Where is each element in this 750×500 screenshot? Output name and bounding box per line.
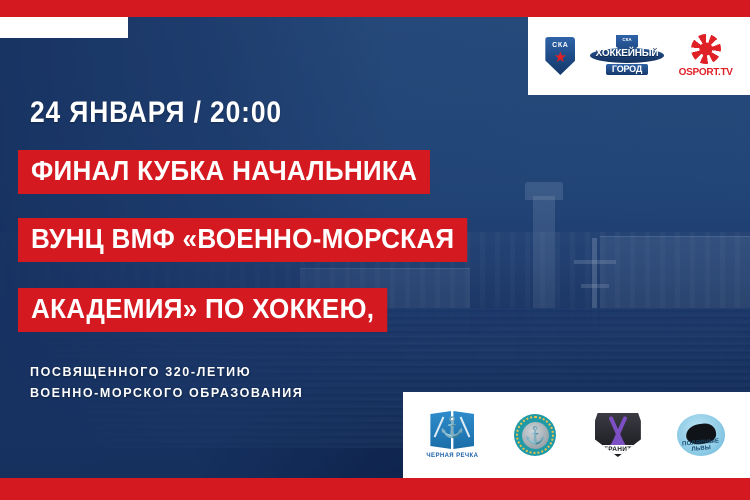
shield-star-icon: СКА ★ <box>545 37 575 75</box>
oval-crest-icon: СКА ХОККЕЙНЫЙ ГОРОД <box>590 35 664 77</box>
star-icon: ★ <box>554 50 567 65</box>
osport-tv-logo: OSPORT.TV <box>679 34 733 78</box>
anchor-seal-icon: ⚓ <box>514 414 556 456</box>
granit-logo: ГРАНИТ <box>581 413 655 457</box>
headline-line-2: ВУНЦ ВМФ «ВОЕННО-МОРСКАЯ <box>18 218 467 262</box>
top-red-bar <box>0 0 750 17</box>
ska-logo: СКА ★ <box>545 37 575 75</box>
sponsor-logo-panel: СКА ★ СКА ХОККЕЙНЫЙ ГОРОД OSPORT.TV <box>528 17 750 95</box>
bottom-red-bar <box>0 478 750 500</box>
hockey-city-label-top: ХОККЕЙНЫЙ <box>590 49 664 59</box>
chernaya-rechka-label: ЧЕРНАЯ РЕЧКА <box>426 453 478 459</box>
anchor-icon: ⚓ <box>440 418 465 438</box>
team-logo-panel: ⚓ ЧЕРНАЯ РЕЧКА ⚓ ГРАНИТ ПОЛЯРНЫЕ ЛЬВЫ <box>403 392 750 478</box>
ska-label: СКА <box>552 42 568 49</box>
granit-label: ГРАНИТ <box>599 445 636 454</box>
event-date-time: 24 ЯНВАРЯ / 20:00 <box>30 96 282 130</box>
crossed-sticks-shield-icon: ГРАНИТ <box>595 413 641 457</box>
event-poster: СКА ★ СКА ХОККЕЙНЫЙ ГОРОД OSPORT.TV 24 Я… <box>0 0 750 500</box>
subtitle-line-1: ПОСВЯЩЕННОГО 320-ЛЕТИЮ <box>30 362 303 383</box>
book-anchor-icon: ⚓ <box>430 411 474 451</box>
polar-lions-label: ПОЛЯРНЫЕ ЛЬВЫ <box>677 438 725 454</box>
polar-lions-logo: ПОЛЯРНЫЕ ЛЬВЫ <box>664 414 738 456</box>
seal-center: ⚓ <box>522 422 549 449</box>
spiral-ball-icon <box>691 34 721 64</box>
headline-line-3: АКАДЕМИЯ» ПО ХОККЕЮ, <box>18 288 387 332</box>
subtitle-line-2: ВОЕННО-МОРСКОГО ОБРАЗОВАНИЯ <box>30 383 303 404</box>
naval-academy-seal: ⚓ <box>498 414 572 456</box>
hockey-city-label-bottom: ГОРОД <box>606 64 648 75</box>
event-subtitle: ПОСВЯЩЕННОГО 320-ЛЕТИЮ ВОЕННО-МОРСКОГО О… <box>30 362 303 403</box>
headline-line-1: ФИНАЛ КУБКА НАЧАЛЬНИКА <box>18 150 430 194</box>
lion-head-icon: ПОЛЯРНЫЕ ЛЬВЫ <box>677 414 725 456</box>
hockey-city-logo: СКА ХОККЕЙНЫЙ ГОРОД <box>590 35 664 77</box>
chernaya-rechka-logo: ⚓ ЧЕРНАЯ РЕЧКА <box>415 411 489 459</box>
osport-label: OSPORT.TV <box>679 67 733 78</box>
top-left-white-block <box>0 17 128 38</box>
osport-wordmark: OSPORT.TV <box>679 34 733 78</box>
hockey-city-wordmark: ХОККЕЙНЫЙ ГОРОД <box>590 49 664 77</box>
